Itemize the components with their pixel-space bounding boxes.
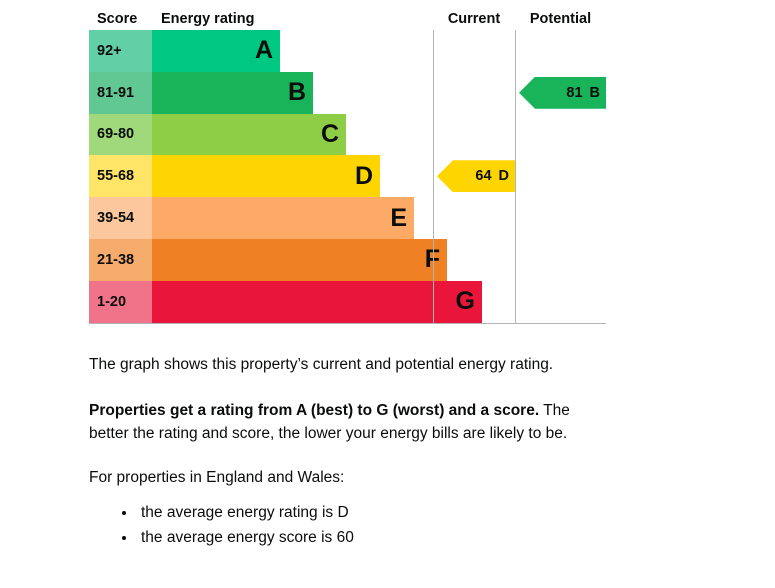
energy-band-cell-d: D bbox=[152, 155, 433, 197]
score-range-cell-b: 81-91 bbox=[89, 72, 152, 114]
band-letter-a: A bbox=[255, 38, 273, 63]
score-range-cell-g: 1-20 bbox=[89, 281, 152, 323]
column-divider-current bbox=[433, 30, 434, 323]
intro-paragraph: The graph shows this property’s current … bbox=[89, 353, 649, 376]
column-header-potential: Potential bbox=[515, 8, 606, 30]
current-cell-e bbox=[433, 197, 515, 239]
table-row: 1-20G bbox=[89, 281, 606, 323]
table-body: 92+A81-91B81B69-80C55-68D64D39-54E21-38F… bbox=[89, 30, 606, 323]
energy-band-bar-a: A bbox=[152, 30, 280, 72]
energy-band-bar-b: B bbox=[152, 72, 313, 114]
band-letter-c: C bbox=[321, 122, 339, 147]
energy-band-cell-e: E bbox=[152, 197, 433, 239]
energy-band-cell-a: A bbox=[152, 30, 433, 72]
potential-rating-marker: 81B bbox=[519, 77, 606, 109]
score-range-cell-e: 39-54 bbox=[89, 197, 152, 239]
column-divider-potential bbox=[515, 30, 516, 323]
table-header: Score Energy rating Current Potential bbox=[89, 8, 606, 30]
potential-cell-a bbox=[515, 30, 606, 72]
energy-band-cell-b: B bbox=[152, 72, 433, 114]
current-cell-g bbox=[433, 281, 515, 323]
table-row: 39-54E bbox=[89, 197, 606, 239]
energy-band-cell-f: F bbox=[152, 239, 433, 281]
potential-cell-c bbox=[515, 114, 606, 156]
current-cell-b bbox=[433, 72, 515, 114]
energy-band-bar-e: E bbox=[152, 197, 414, 239]
band-letter-d: D bbox=[355, 164, 373, 189]
potential-score-value: 81 bbox=[566, 85, 582, 101]
energy-band-bar-d: D bbox=[152, 155, 380, 197]
column-header-energy-rating: Energy rating bbox=[152, 8, 433, 30]
current-cell-a bbox=[433, 30, 515, 72]
potential-cell-f bbox=[515, 239, 606, 281]
band-letter-b: B bbox=[288, 80, 306, 105]
table-row: 92+A bbox=[89, 30, 606, 72]
table-bottom-border bbox=[89, 323, 606, 324]
potential-cell-e bbox=[515, 197, 606, 239]
energy-band-bar-c: C bbox=[152, 114, 346, 156]
list-item: the average energy score is 60 bbox=[137, 525, 354, 550]
table-row: 69-80C bbox=[89, 114, 606, 156]
averages-list: the average energy rating is Dthe averag… bbox=[109, 500, 354, 550]
current-cell-c bbox=[433, 114, 515, 156]
list-item: the average energy rating is D bbox=[137, 500, 354, 525]
rating-explanation-paragraph: Properties get a rating from A (best) to… bbox=[89, 399, 609, 445]
current-rating-marker: 64D bbox=[437, 160, 515, 192]
table-row: 55-68D64D bbox=[89, 155, 606, 197]
score-range-cell-f: 21-38 bbox=[89, 239, 152, 281]
current-cell-d: 64D bbox=[433, 155, 515, 197]
score-range-cell-d: 55-68 bbox=[89, 155, 152, 197]
rating-explanation-bold: Properties get a rating from A (best) to… bbox=[89, 402, 539, 419]
current-cell-f bbox=[433, 239, 515, 281]
energy-band-bar-f: F bbox=[152, 239, 447, 281]
potential-rating-letter: B bbox=[590, 85, 600, 101]
epc-rating-table: Score Energy rating Current Potential 92… bbox=[89, 8, 606, 323]
region-heading: For properties in England and Wales: bbox=[89, 466, 569, 489]
table-row: 21-38F bbox=[89, 239, 606, 281]
column-header-current: Current bbox=[433, 8, 515, 30]
score-range-cell-c: 69-80 bbox=[89, 114, 152, 156]
potential-cell-b: 81B bbox=[515, 72, 606, 114]
energy-band-cell-c: C bbox=[152, 114, 433, 156]
band-letter-e: E bbox=[390, 206, 407, 231]
score-range-cell-a: 92+ bbox=[89, 30, 152, 72]
table-row: 81-91B81B bbox=[89, 72, 606, 114]
energy-band-cell-g: G bbox=[152, 281, 433, 323]
potential-cell-d bbox=[515, 155, 606, 197]
current-score-value: 64 bbox=[475, 168, 491, 184]
potential-cell-g bbox=[515, 281, 606, 323]
column-header-score: Score bbox=[89, 8, 152, 30]
header-row: Score Energy rating Current Potential bbox=[89, 8, 606, 30]
current-rating-letter: D bbox=[499, 168, 509, 184]
